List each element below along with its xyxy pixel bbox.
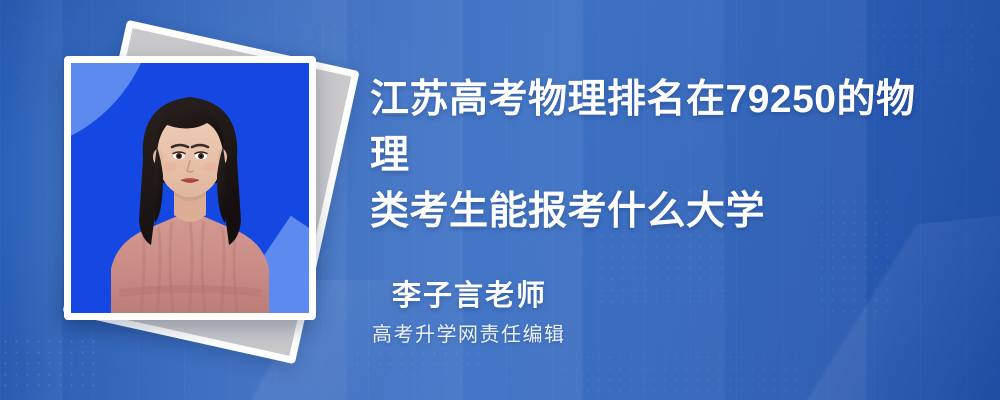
article-title: 江苏高考物理排名在79250的物理 类考生能报考什么大学 <box>370 72 946 240</box>
author-portrait-photo <box>71 63 309 313</box>
photo-card-front <box>64 56 316 320</box>
author-role-caption: 高考升学网责任编辑 <box>372 318 566 347</box>
portrait-photo-stack <box>48 36 348 366</box>
text-column: 江苏高考物理排名在79250的物理 类考生能报考什么大学 李子言老师 高考升学网… <box>370 0 970 400</box>
article-cover-banner: 江苏高考物理排名在79250的物理 类考生能报考什么大学 李子言老师 高考升学网… <box>0 0 1000 400</box>
author-name: 李子言老师 <box>392 272 547 314</box>
